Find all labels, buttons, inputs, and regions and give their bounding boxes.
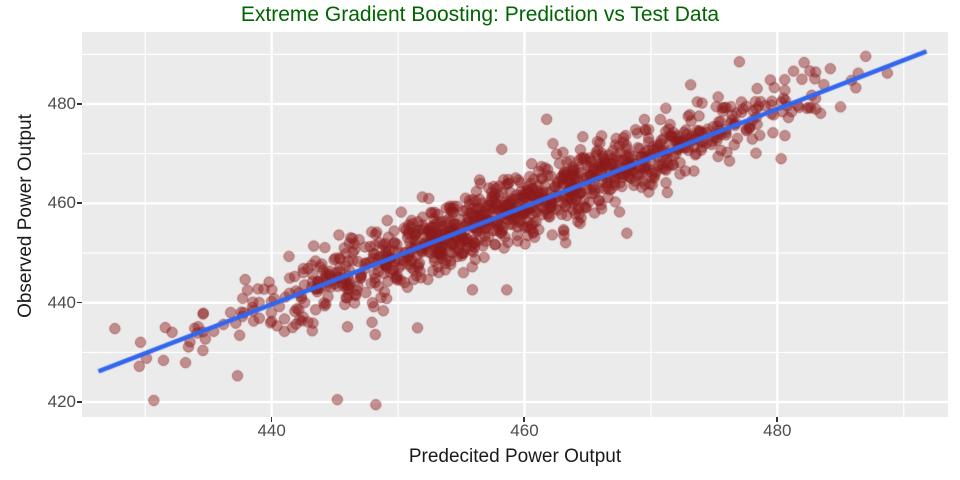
- x-tick-label: 460: [494, 421, 554, 441]
- y-axis-title: Observed Power Output: [15, 36, 37, 396]
- y-tick-mark: [77, 202, 82, 204]
- x-tick-mark: [271, 417, 273, 422]
- x-tick-label: 440: [242, 421, 302, 441]
- y-tick-mark: [77, 401, 82, 403]
- x-tick-label: 480: [747, 421, 807, 441]
- x-tick-mark: [776, 417, 778, 422]
- page-title: Extreme Gradient Boosting: Prediction vs…: [0, 3, 960, 27]
- scatter-plot-figure: Extreme Gradient Boosting: Prediction vs…: [0, 0, 960, 480]
- y-tick-mark: [77, 302, 82, 304]
- plot-panel: [82, 32, 948, 417]
- y-tick-mark: [77, 103, 82, 105]
- x-axis-title: Predecited Power Output: [82, 446, 948, 468]
- x-tick-mark: [523, 417, 525, 422]
- scatter-points-layer: [82, 32, 948, 417]
